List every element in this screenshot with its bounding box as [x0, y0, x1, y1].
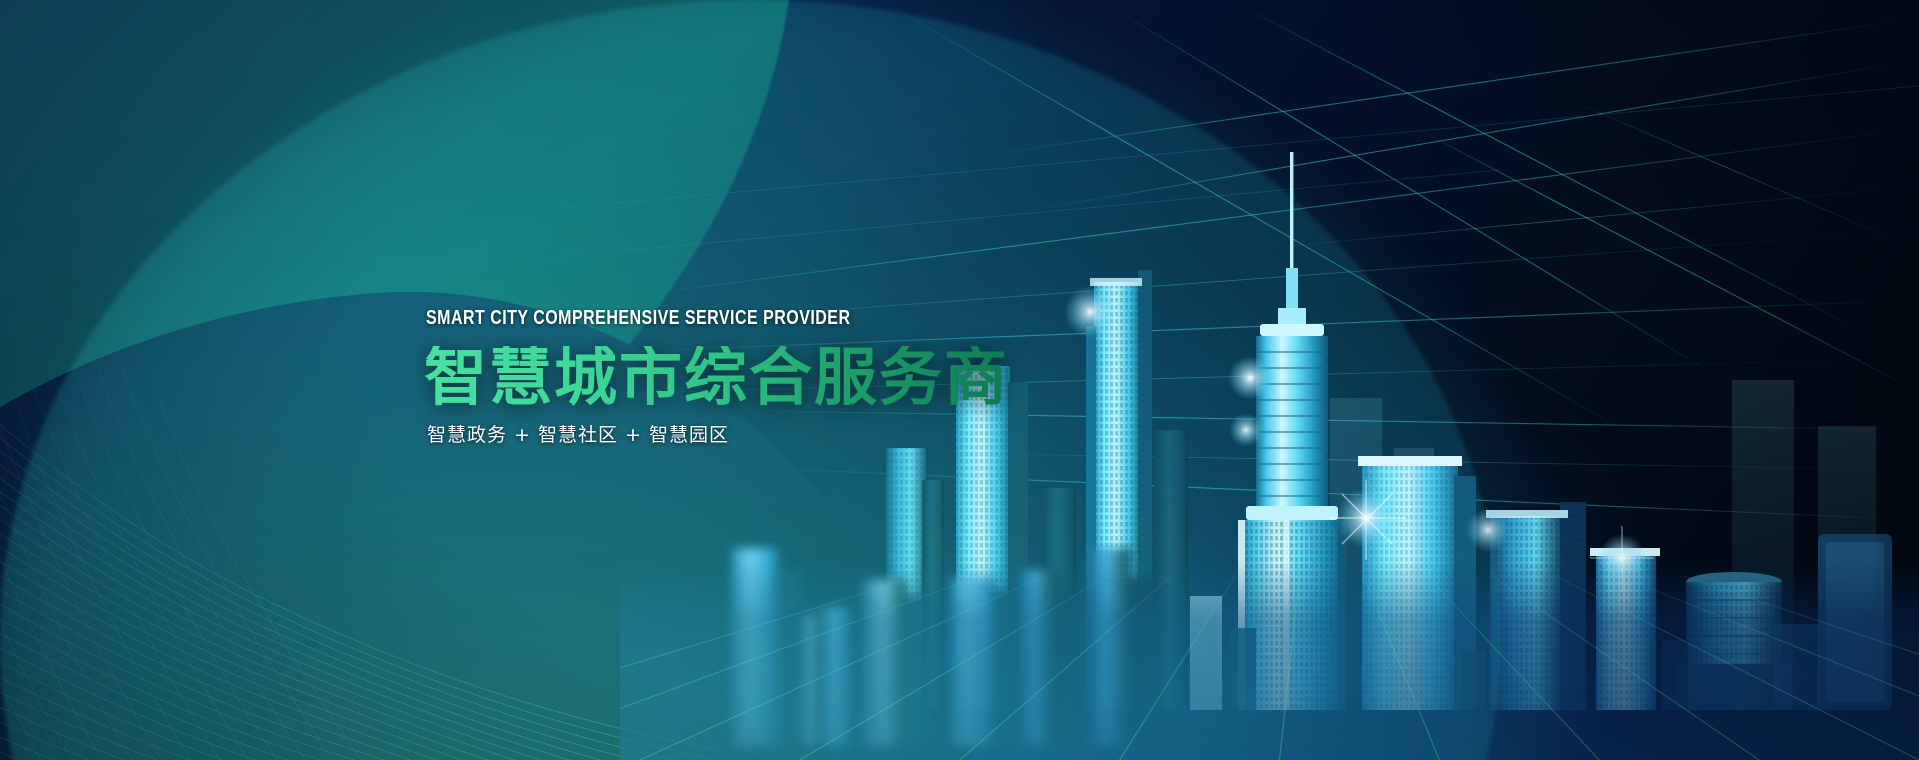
line-mesh-decoration [0, 210, 720, 760]
smart-city-hero-banner: SMART CITY COMPREHENSIVE SERVICE PROVIDE… [0, 0, 1919, 760]
hero-eyebrow-english: SMART CITY COMPREHENSIVE SERVICE PROVIDE… [426, 308, 892, 328]
hero-text-block: SMART CITY COMPREHENSIVE SERVICE PROVIDE… [424, 308, 1009, 445]
hero-subhead-services: 智慧政务 + 智慧社区 + 智慧园区 [427, 426, 1009, 445]
hero-headline-chinese: 智慧城市综合服务商 [424, 346, 1009, 410]
perspective-grid-floor [620, 560, 1919, 760]
foreground-blurred-bars [640, 420, 1340, 760]
